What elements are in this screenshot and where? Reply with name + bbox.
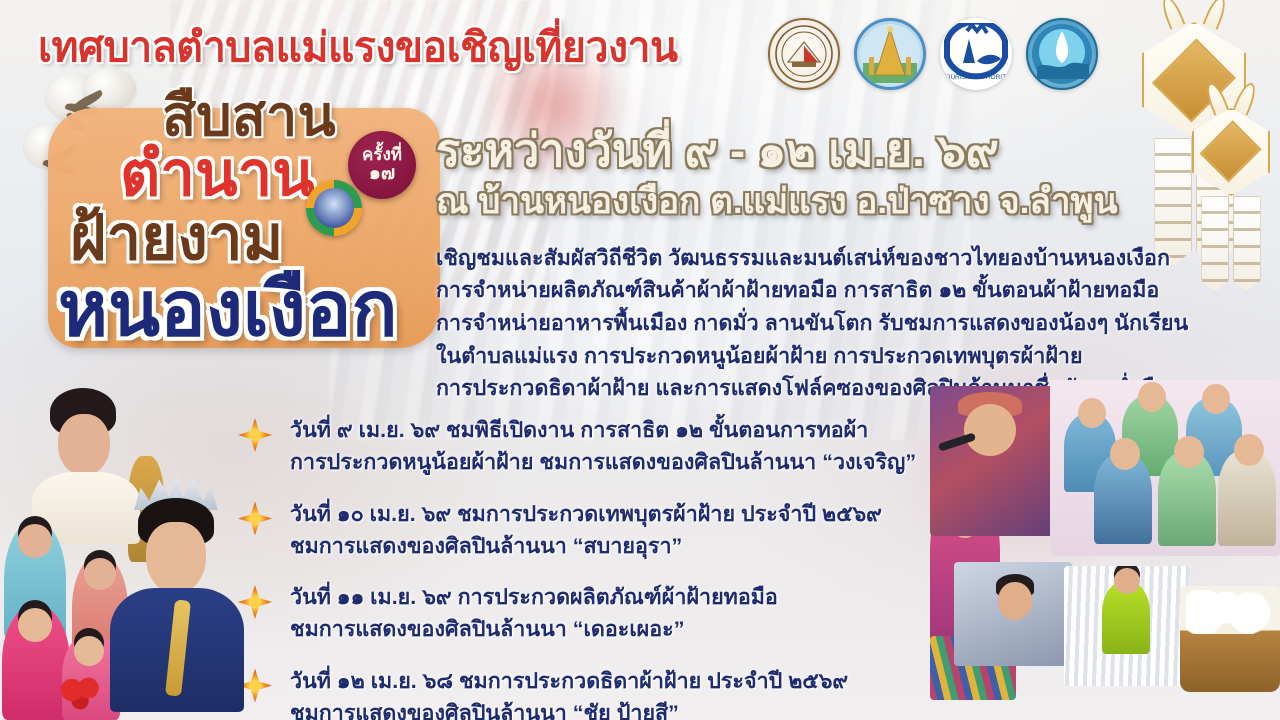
schedule-line: การประกวดหนูน้อยผ้าฝ้าย ชมการแสดงของศิลป… <box>290 446 1038 478</box>
village-emblem-inner <box>314 188 354 228</box>
schedule-item: วันที่ ๑๒ เม.ย. ๖๘ ชมการประกวดธิดาผ้าฝ้า… <box>238 665 1038 720</box>
event-date-line: ระหว่างวันที่ ๙ - ๑๒ เม.ย. ๖๙ <box>436 126 1260 176</box>
event-info-column: ระหว่างวันที่ ๙ - ๑๒ เม.ย. ๖๙ ณ บ้านหนอง… <box>436 126 1260 405</box>
schedule-line: ชมการแสดงของศิลปินล้านนา “สบายอุรา” <box>290 530 1038 562</box>
schedule-line: วันที่ ๙ เม.ย. ๖๙ ชมพิธีเปิดงาน การสาธิต… <box>290 414 1038 446</box>
schedule-line: ชมการแสดงของศิลปินล้านนา “ชัย ป้ายสี” <box>290 697 1038 720</box>
tourism-authority-of-thailand-icon: TOURISM AUTHORITY <box>940 18 1012 90</box>
schedule-item-text: วันที่ ๑๑ เม.ย. ๖๙ การประกวดผลิตภัณฑ์ผ้า… <box>290 581 1038 646</box>
title-line-1: สืบสาน <box>162 88 336 144</box>
schedule-item-text: วันที่ ๑๒ เม.ย. ๖๘ ชมการประกวดธิดาผ้าฝ้า… <box>290 665 1038 720</box>
main-title-block: สืบสาน ตำนาน ฝ้ายงาม หนองเงือก <box>34 86 454 366</box>
schedule-line: วันที่ ๑๒ เม.ย. ๖๘ ชมการประกวดธิดาผ้าฝ้า… <box>290 665 1038 697</box>
schedule-item: วันที่ ๙ เม.ย. ๖๙ ชมพิธีเปิดงาน การสาธิต… <box>238 414 1038 479</box>
schedule-item-text: วันที่ ๙ เม.ย. ๖๙ ชมพิธีเปิดงาน การสาธิต… <box>290 414 1038 479</box>
description-line: ในตำบลแม่แรง การประกวดหนูน้อยผ้าฝ้าย การ… <box>436 340 1260 373</box>
title-line-2: ตำนาน <box>120 144 315 206</box>
diamond-bullet-icon <box>238 669 272 703</box>
description-line: เชิญชมและสัมผัสวิถีชีวิต วัฒนธรรมและมนต์… <box>436 242 1260 275</box>
event-description: เชิญชมและสัมผัสวิถีชีวิต วัฒนธรรมและมนต์… <box>436 242 1260 405</box>
schedule-item-text: วันที่ ๑๐ เม.ย. ๖๙ ชมการประกวดเทพบุตรผ้า… <box>290 498 1038 563</box>
description-line: การจำหน่ายผลิตภัณฑ์สินค้าผ้าผ้าฝ้ายทอมือ… <box>436 274 1260 307</box>
diamond-bullet-icon <box>238 418 272 452</box>
diamond-bullet-icon <box>238 502 272 536</box>
sponsor-logo-row: TOURISM AUTHORITY <box>768 18 1098 90</box>
description-line: การจำหน่ายอาหารพื้นเมือง กาดมั่ว ลานขันโ… <box>436 307 1260 340</box>
schedule-item: วันที่ ๑๐ เม.ย. ๖๙ ชมการประกวดเทพบุตรผ้า… <box>238 498 1038 563</box>
title-line-3: ฝ้ายงาม <box>70 208 283 270</box>
schedule-item: วันที่ ๑๑ เม.ย. ๖๙ การประกวดผลิตภัณฑ์ผ้า… <box>238 581 1038 646</box>
village-emblem-icon <box>306 180 362 236</box>
description-line: การประกวดธิดาผ้าฝ้าย และการแสดงโฟล์คซองข… <box>436 372 1260 405</box>
municipality-seal-icon <box>768 18 840 90</box>
schedule-line: วันที่ ๑๑ เม.ย. ๖๙ การประกวดผลิตภัณฑ์ผ้า… <box>290 581 1038 613</box>
header-invitation-text: เทศบาลตำบลแม่แรงขอเชิญเที่ยวงาน <box>38 26 738 69</box>
edition-badge: ครั้งที่ ๑๗ <box>348 131 416 199</box>
schedule-line: ชมการแสดงของศิลปินล้านนา “เดอะเผอะ” <box>290 613 1038 645</box>
golden-pagoda-seal-icon <box>854 18 926 90</box>
edition-badge-label: ครั้งที่ <box>362 146 402 164</box>
schedule-line: วันที่ ๑๐ เม.ย. ๖๙ ชมการประกวดเทพบุตรผ้า… <box>290 498 1038 530</box>
event-schedule-list: วันที่ ๙ เม.ย. ๖๙ ชมพิธีเปิดงาน การสาธิต… <box>238 414 1038 720</box>
event-place-line: ณ บ้านหนองเงือก ต.แม่แรง อ.ป่าซาง จ.ลำพู… <box>436 182 1260 222</box>
ministry-of-tourism-and-sports-icon <box>1026 18 1098 90</box>
edition-badge-number: ๑๗ <box>369 164 395 185</box>
svg-text:TOURISM AUTHORITY: TOURISM AUTHORITY <box>942 74 1011 81</box>
diamond-bullet-icon <box>238 585 272 619</box>
title-line-4: หนองเงือก <box>58 272 398 348</box>
festival-poster: เทศบาลตำบลแม่แรงขอเชิญเที่ยวงาน <box>0 0 1280 720</box>
